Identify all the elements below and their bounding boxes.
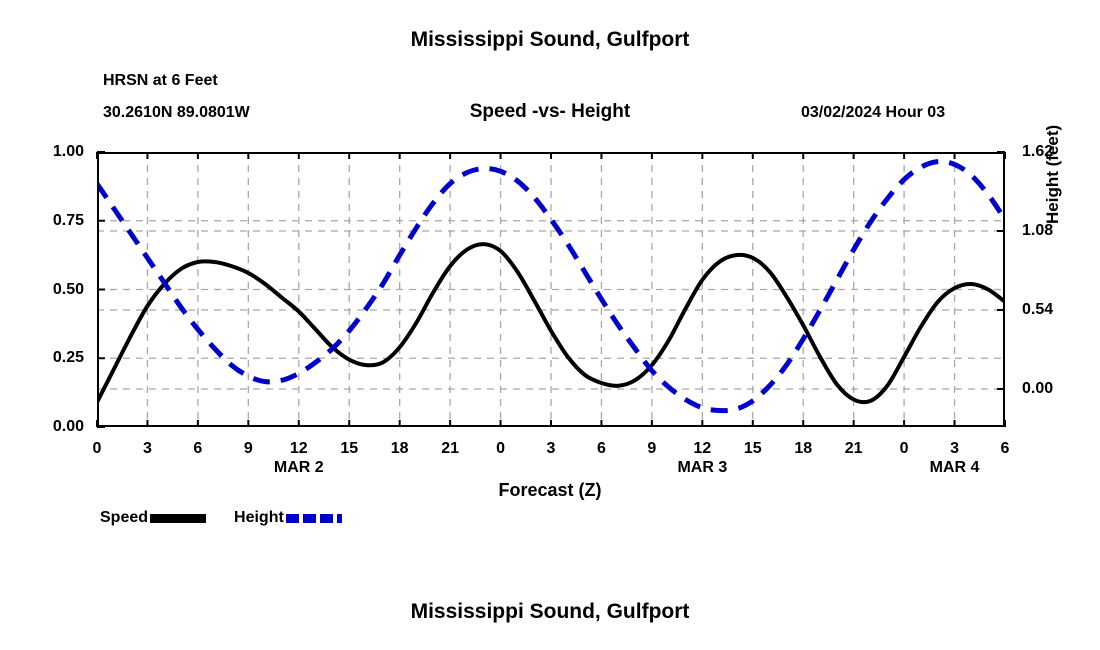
x-tick-8: 0 — [496, 440, 505, 458]
x-tick-16: 0 — [900, 440, 909, 458]
y-tick-right-3: 1.62 — [1022, 143, 1053, 161]
legend-label-speed: Speed — [100, 509, 148, 527]
y-tick-right-2: 1.08 — [1022, 222, 1053, 240]
chart-page: Mississippi Sound, Gulfport HRSN at 6 Fe… — [0, 0, 1100, 650]
day-label-0: MAR 2 — [274, 459, 324, 477]
legend-swatch-speed — [150, 514, 206, 523]
day-label-2: MAR 4 — [930, 459, 980, 477]
x-tick-13: 15 — [744, 440, 762, 458]
y-tick-left-0: 0.00 — [53, 418, 84, 436]
x-tick-4: 12 — [290, 440, 308, 458]
forecast-datestamp: 03/02/2024 Hour 03 — [801, 104, 945, 122]
page-title-top: Mississippi Sound, Gulfport — [0, 28, 1100, 52]
x-tick-17: 3 — [950, 440, 959, 458]
legend-item-speed: Speed — [100, 509, 206, 527]
y-tick-right-1: 0.54 — [1022, 301, 1053, 319]
legend-item-height: Height — [234, 509, 342, 527]
legend-label-height: Height — [234, 509, 284, 527]
x-tick-2: 6 — [193, 440, 202, 458]
x-tick-1: 3 — [143, 440, 152, 458]
x-tick-5: 15 — [340, 440, 358, 458]
x-tick-10: 6 — [597, 440, 606, 458]
y-tick-left-4: 1.00 — [53, 143, 84, 161]
x-tick-0: 0 — [93, 440, 102, 458]
plot-area — [97, 152, 1005, 427]
x-tick-9: 3 — [547, 440, 556, 458]
x-tick-7: 21 — [441, 440, 459, 458]
y-tick-left-2: 0.50 — [53, 281, 84, 299]
x-tick-15: 21 — [845, 440, 863, 458]
station-depth-label: HRSN at 6 Feet — [103, 72, 218, 90]
x-tick-14: 18 — [794, 440, 812, 458]
x-tick-12: 12 — [693, 440, 711, 458]
x-tick-6: 18 — [391, 440, 409, 458]
y-axis-label-right: Height (feet) — [1043, 125, 1063, 224]
x-axis-label: Forecast (Z) — [0, 480, 1100, 501]
page-title-bottom: Mississippi Sound, Gulfport — [0, 600, 1100, 624]
chart-legend: Speed Height — [100, 508, 342, 528]
legend-swatch-height — [286, 514, 342, 523]
x-tick-3: 9 — [244, 440, 253, 458]
y-tick-right-0: 0.00 — [1022, 380, 1053, 398]
day-label-1: MAR 3 — [677, 459, 727, 477]
x-tick-18: 6 — [1001, 440, 1010, 458]
plot-frame — [97, 152, 1005, 427]
y-tick-left-1: 0.25 — [53, 349, 84, 367]
x-tick-11: 9 — [647, 440, 656, 458]
y-tick-left-3: 0.75 — [53, 212, 84, 230]
